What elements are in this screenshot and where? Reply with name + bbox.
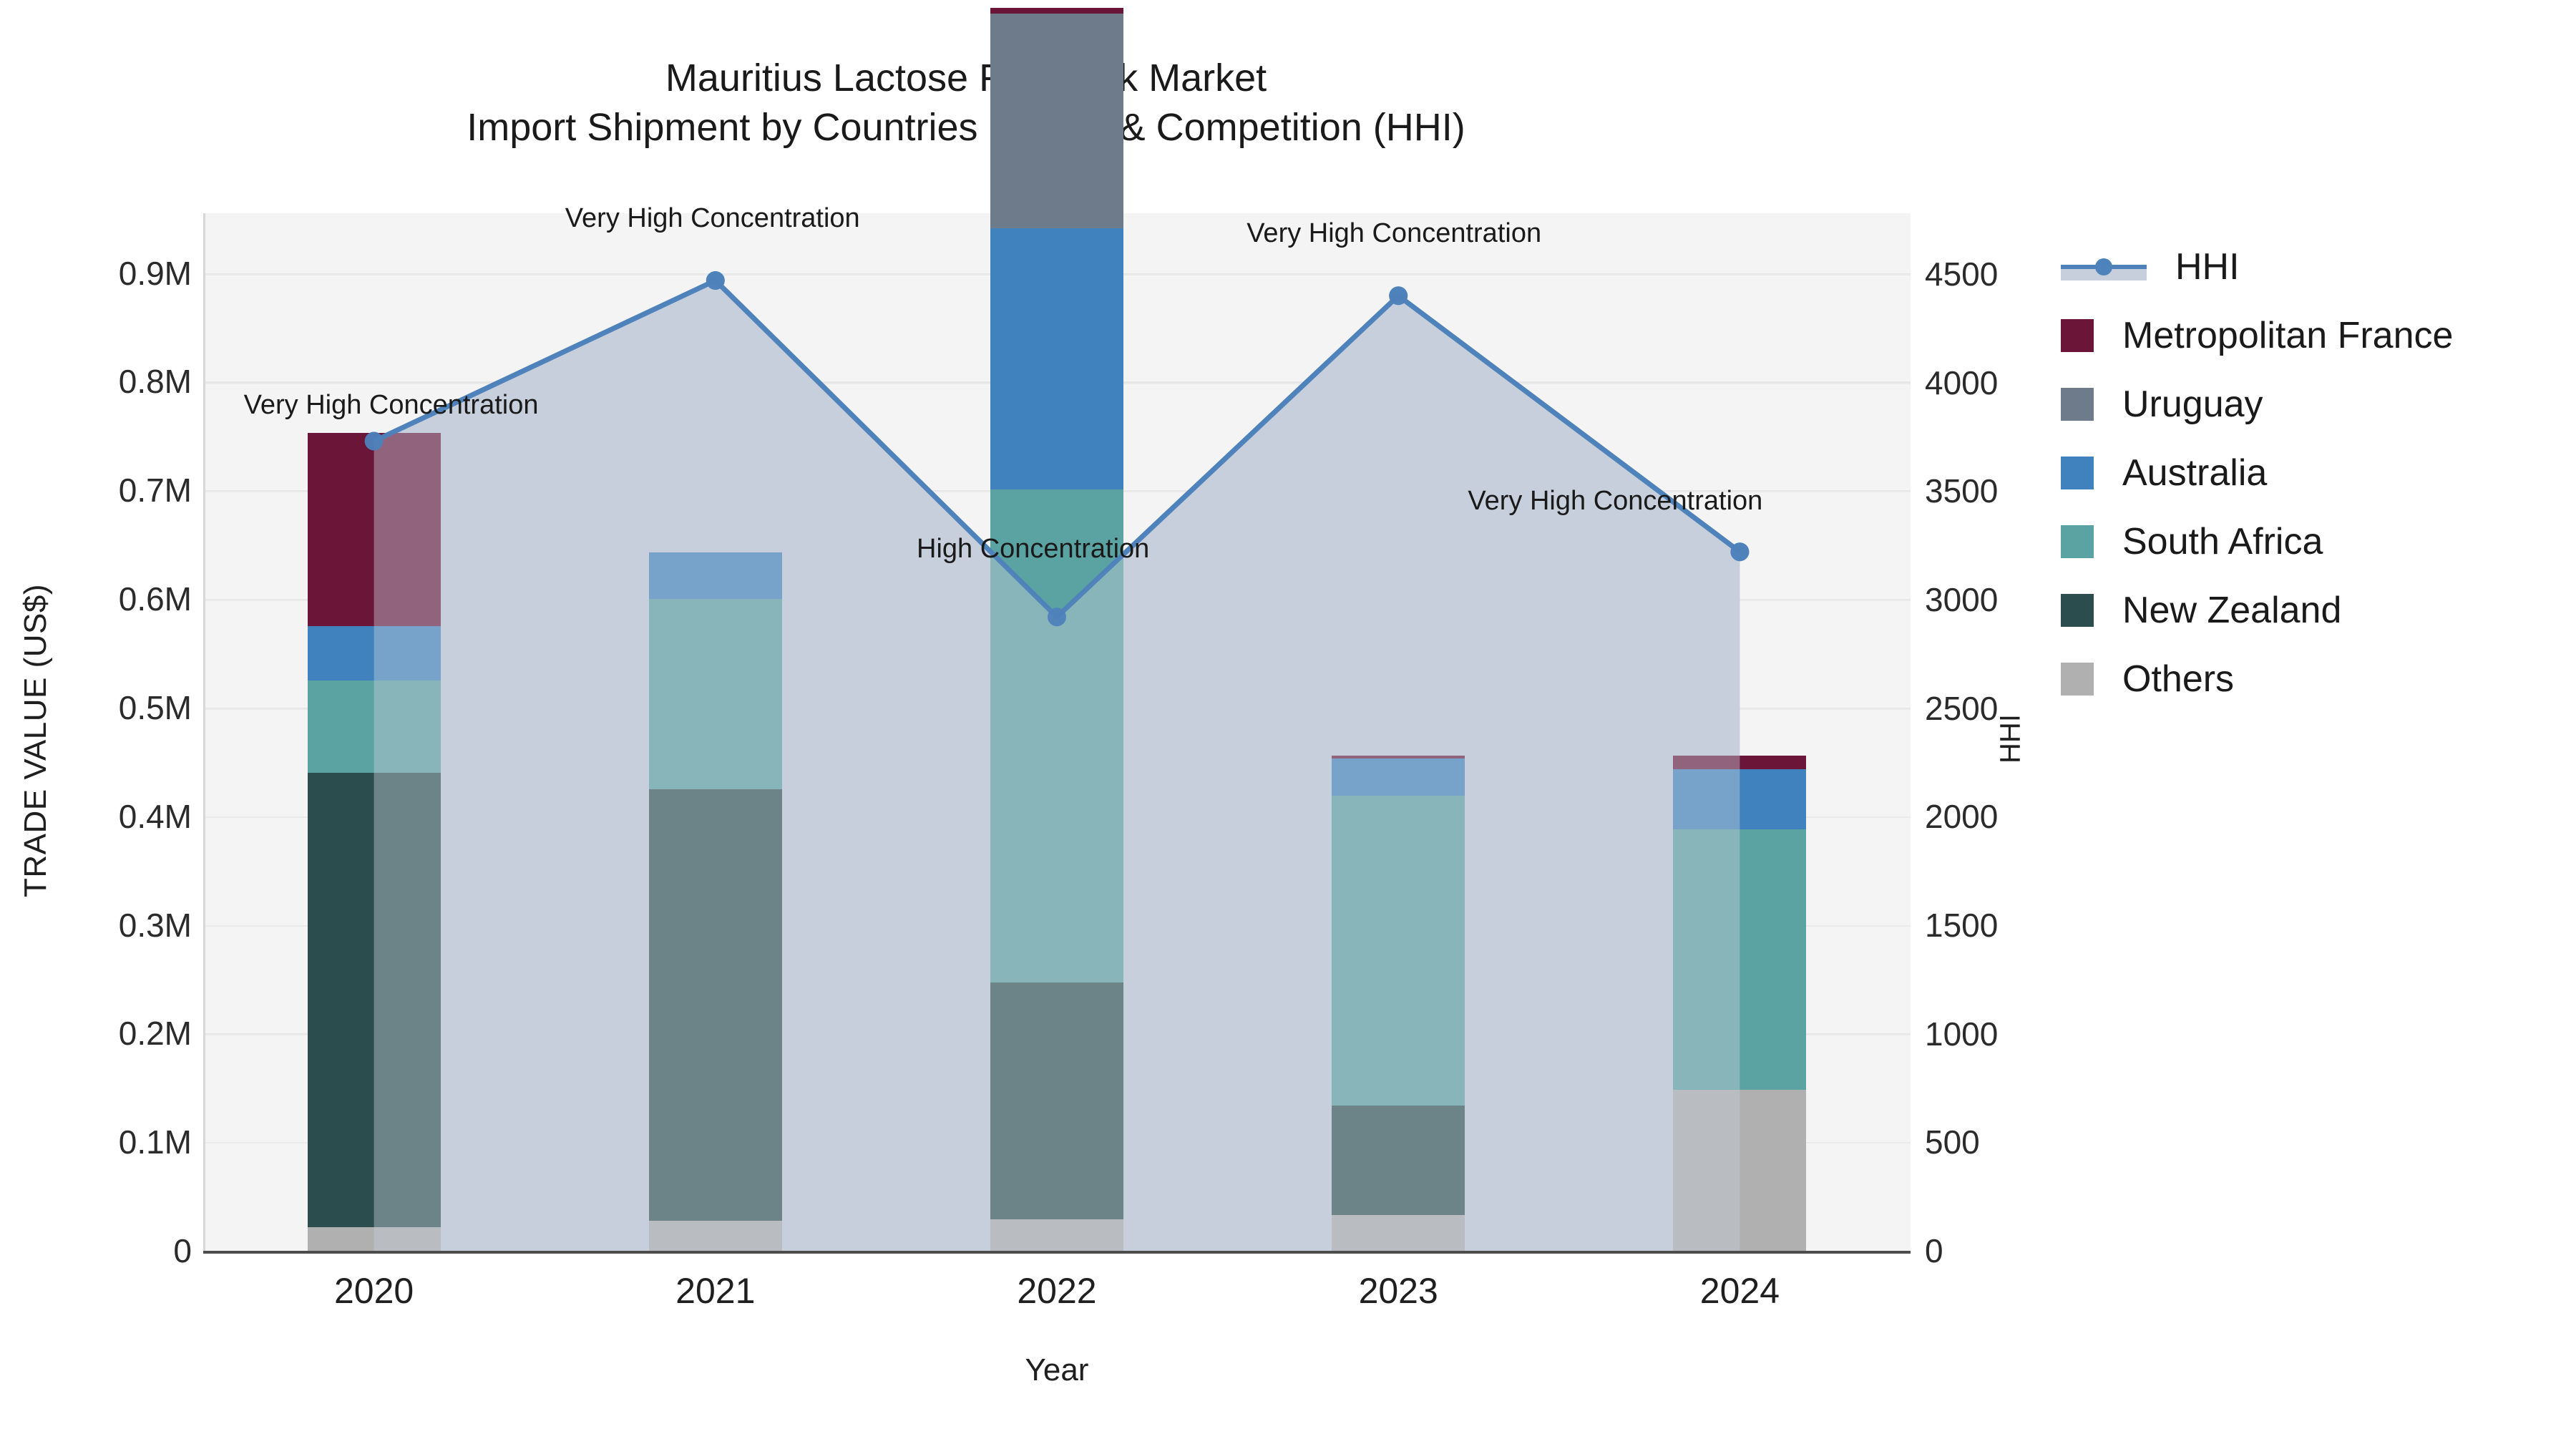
y-tick-label-right: 500 [1925,1123,2111,1161]
legend-color-swatch [2061,388,2094,421]
bar-segment[interactable] [308,680,441,773]
y-tick-label-left: 0.9M [6,254,192,293]
bar-segment[interactable] [1673,769,1806,829]
bar-group[interactable] [649,213,782,1251]
y-tick-label-left: 0.2M [6,1014,192,1053]
bar-segment[interactable] [1673,829,1806,1090]
bar-segment[interactable] [990,1219,1123,1251]
legend-item[interactable]: Others [2061,645,2562,713]
bar-segment[interactable] [990,14,1123,229]
y-axis-left-title: TRADE VALUE (US$) [18,540,54,941]
legend-item-label: New Zealand [2122,589,2341,632]
legend-line-marker-icon [2061,250,2147,283]
y-tick-label-right: 1500 [1925,906,2111,945]
legend-color-swatch [2061,319,2094,352]
bar-segment[interactable] [990,8,1123,14]
y-tick-label-left: 0.7M [6,471,192,509]
legend-item[interactable]: Metropolitan France [2061,301,2562,370]
stacked-bars [203,213,1911,1251]
y-tick-label-right: 1000 [1925,1015,2111,1053]
y-axis-right-ticks: 050010001500200025003000350040004500 [1925,0,2140,1449]
legend-color-swatch [2061,663,2094,696]
chart-title: Mauritius Lactose Free Milk Market Impor… [0,54,1932,152]
bar-segment[interactable] [649,789,782,1221]
chart-title-main: Mauritius Lactose Free Milk Market [0,54,1932,103]
bar-segment[interactable] [990,982,1123,1219]
chart-title-sub: Import Shipment by Countries (Top 5) & C… [0,103,1932,152]
x-tick-label: 2020 [267,1270,482,1312]
bar-group[interactable] [990,213,1123,1251]
legend-item[interactable]: Uruguay [2061,370,2562,439]
y-tick-label-left: 0.1M [6,1123,192,1161]
bar-segment[interactable] [990,228,1123,489]
concentration-annotation: Very High Concentration [244,390,539,421]
bar-group[interactable] [308,213,441,1251]
x-axis-baseline [203,1251,1911,1254]
bar-segment[interactable] [1673,756,1806,770]
bar-segment[interactable] [308,626,441,680]
chart-canvas: Mauritius Lactose Free Milk Market Impor… [0,0,2576,1449]
x-tick-label: 2023 [1291,1270,1506,1312]
bar-group[interactable] [1673,213,1806,1251]
bar-segment[interactable] [308,1227,441,1251]
bar-group[interactable] [1332,213,1465,1251]
x-tick-label: 2022 [950,1270,1164,1312]
concentration-annotation: Very High Concentration [1246,218,1541,249]
y-tick-label-left: 0 [6,1231,192,1270]
legend-item[interactable]: South Africa [2061,507,2562,576]
bar-segment[interactable] [308,773,441,1227]
legend-item[interactable]: Australia [2061,439,2562,507]
bar-segment[interactable] [1673,1090,1806,1251]
bar-segment[interactable] [1332,1215,1465,1251]
bar-segment[interactable] [1332,758,1465,796]
legend-item-label: Australia [2122,452,2267,494]
y-axis-right-title: HHI [1995,632,2027,847]
chart-legend: HHIMetropolitan FranceUruguayAustraliaSo… [2061,233,2562,713]
legend-item-label: Metropolitan France [2122,314,2453,357]
concentration-annotation: High Concentration [917,534,1149,565]
legend-item-label: HHI [2175,245,2240,288]
legend-item[interactable]: New Zealand [2061,576,2562,645]
x-axis-title: Year [203,1352,1911,1388]
x-tick-label: 2024 [1632,1270,1847,1312]
legend-item-label: Others [2122,658,2234,701]
legend-color-swatch [2061,594,2094,627]
bar-segment[interactable] [649,599,782,789]
legend-color-swatch [2061,457,2094,489]
legend-item-label: Uruguay [2122,383,2263,426]
bar-segment[interactable] [308,433,441,626]
legend-item[interactable]: HHI [2061,233,2562,301]
concentration-annotation: Very High Concentration [1468,486,1762,517]
legend-color-swatch [2061,525,2094,558]
legend-item-label: South Africa [2122,520,2323,563]
y-tick-label-right: 0 [1925,1231,2111,1270]
bar-segment[interactable] [1332,756,1465,759]
bar-segment[interactable] [1332,796,1465,1106]
bar-segment[interactable] [649,1221,782,1252]
bar-segment[interactable] [649,552,782,599]
concentration-annotation: Very High Concentration [565,203,860,234]
x-tick-label: 2021 [608,1270,823,1312]
bar-segment[interactable] [1332,1106,1465,1215]
legend-line-dot-icon [2095,258,2112,275]
y-tick-label-left: 0.8M [6,362,192,401]
